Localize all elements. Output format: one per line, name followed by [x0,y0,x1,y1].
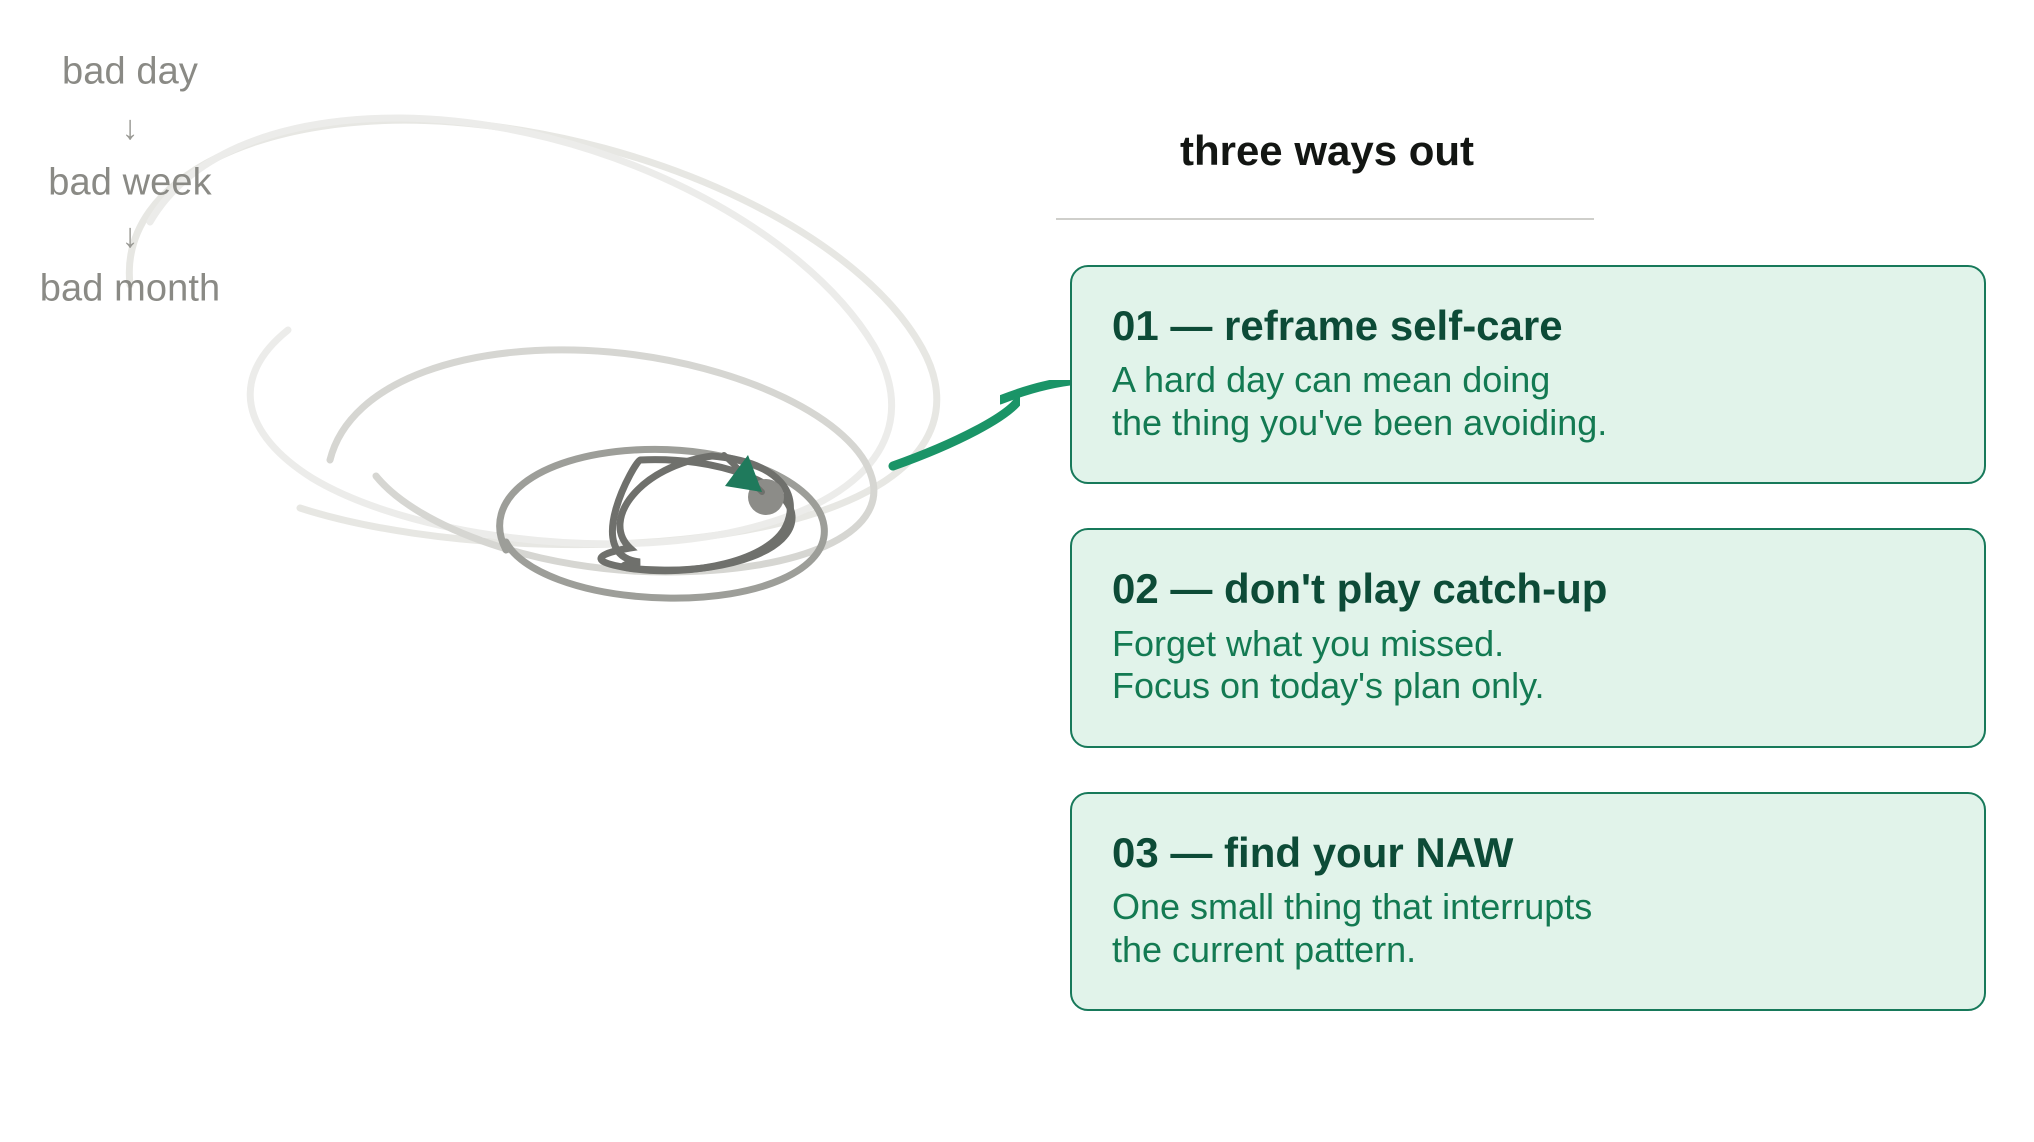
spiral-loop-middle [330,350,874,572]
ways-panel-title: three ways out [1058,120,1596,172]
ways-panel: three ways out 01 — reframe self-care A … [1070,120,1990,1011]
way-card-02-heading: 02 — don't play catch-up [1112,564,1944,614]
escalation-step-bad-week: bad week [48,162,211,205]
escalation-arrow-2: ↓ [122,219,139,253]
way-card-02-body-line-2: Focus on today's plan only. [1112,665,1944,707]
way-card-01[interactable]: 01 — reframe self-care A hard day can me… [1070,265,1986,484]
way-card-01-heading: 01 — reframe self-care [1112,301,1944,351]
ways-card-list: 01 — reframe self-care A hard day can me… [1070,265,1990,1011]
way-card-01-body: A hard day can mean doing the thing you'… [1112,359,1944,444]
way-card-03-body: One small thing that interrupts the curr… [1112,886,1944,971]
way-card-03-body-line-1: One small thing that interrupts [1112,886,1944,928]
escalation-step-bad-day: bad day [62,51,198,94]
way-card-01-body-line-2: the thing you've been avoiding. [1112,402,1944,444]
spiral-graphic [0,0,1020,640]
ways-panel-divider [1056,218,1594,220]
page-root: bad day ↓ bad week ↓ bad month three way… [0,0,2034,1142]
way-card-02-body-line-1: Forget what you missed. [1112,623,1944,665]
way-card-01-body-line-1: A hard day can mean doing [1112,359,1944,401]
way-card-03-body-line-2: the current pattern. [1112,929,1944,971]
way-card-03[interactable]: 03 — find your NAW One small thing that … [1070,792,1986,1011]
way-card-02-body: Forget what you missed. Focus on today's… [1112,623,1944,708]
escalation-arrow-1: ↓ [122,111,139,145]
way-card-03-heading: 03 — find your NAW [1112,828,1944,878]
way-card-02[interactable]: 02 — don't play catch-up Forget what you… [1070,528,1986,747]
spiral-diagram: bad day ↓ bad week ↓ bad month [0,0,1020,640]
escalation-step-bad-month: bad month [40,268,220,311]
